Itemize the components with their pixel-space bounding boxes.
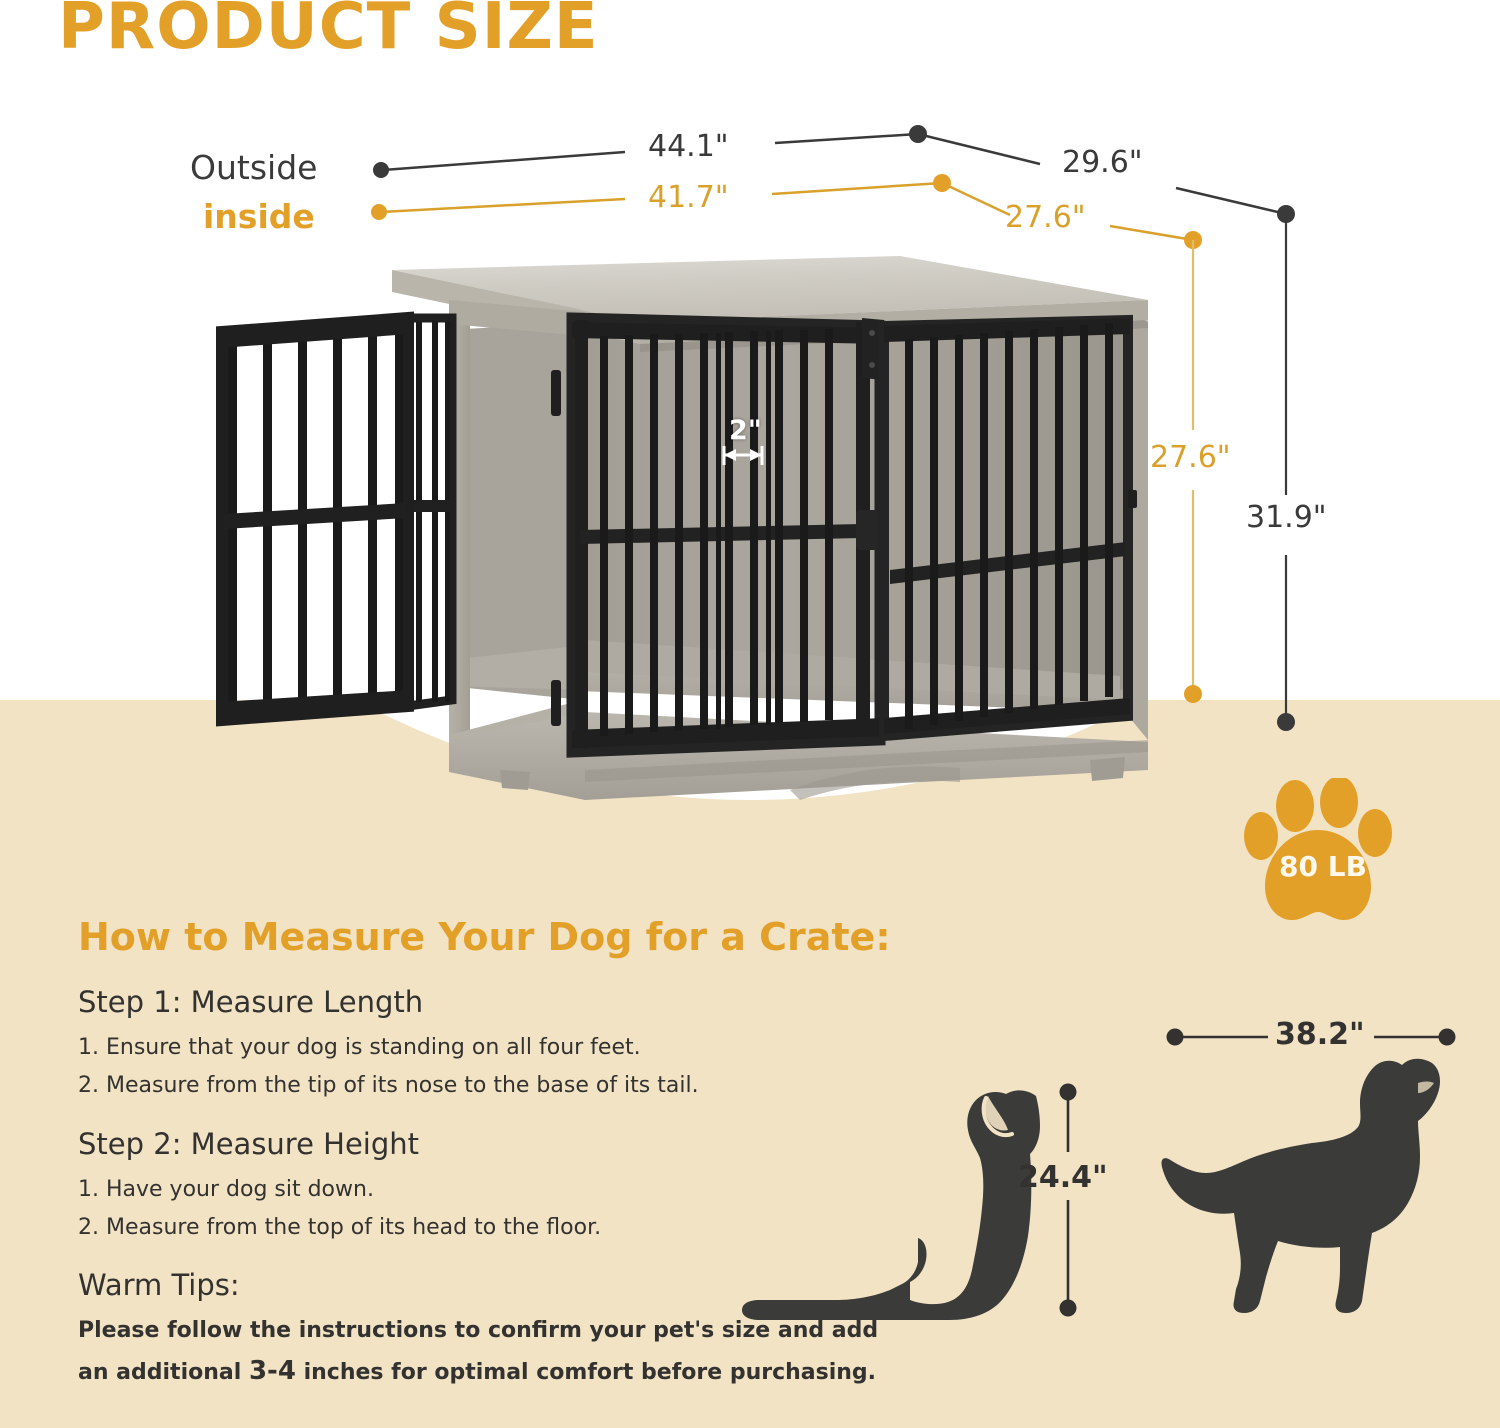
- warm-tips-heading: Warm Tips:: [78, 1268, 240, 1302]
- dimension-outside-depth: 29.6": [1062, 145, 1143, 180]
- dimension-inside-width: 41.7": [648, 180, 729, 215]
- step-1-line-1: 1. Ensure that your dog is standing on a…: [78, 1035, 641, 1060]
- dimension-outside-height: 31.9": [1246, 500, 1327, 535]
- warm-tips-line-2: an additional 3-4 inches for optimal com…: [78, 1356, 876, 1386]
- warm-tips-line-2-suffix: inches for optimal comfort before purcha…: [296, 1360, 876, 1385]
- infographic-canvas: PRODUCT SIZE: [0, 0, 1500, 1428]
- dimension-outside-width: 44.1": [648, 129, 729, 164]
- legend-outside-label: Outside: [190, 148, 317, 187]
- dimension-inside-height: 27.6": [1150, 440, 1231, 475]
- legend-inside-label: inside: [203, 197, 315, 236]
- step-2-line-2: 2. Measure from the top of its head to t…: [78, 1215, 601, 1240]
- dimension-inside-depth: 27.6": [1005, 200, 1086, 235]
- warm-tips-emphasis: 3-4: [249, 1356, 296, 1386]
- step-2-line-1: 1. Have your dog sit down.: [78, 1177, 374, 1202]
- dog-sitting-icon: [740, 1050, 1040, 1330]
- dog-standing-icon: [1160, 1055, 1460, 1320]
- warm-tips-line-2-prefix: an additional: [78, 1360, 249, 1385]
- step-1-line-2: 2. Measure from the tip of its nose to t…: [78, 1073, 699, 1098]
- step-2-heading: Step 2: Measure Height: [78, 1127, 419, 1161]
- step-1-heading: Step 1: Measure Length: [78, 985, 423, 1019]
- dog-length-dimension: 38.2": [1275, 1017, 1365, 1052]
- guide-title: How to Measure Your Dog for a Crate:: [78, 915, 891, 959]
- capacity-badge-value: 80 LB: [1263, 850, 1383, 883]
- bar-spacing-callout: 2": [729, 415, 762, 446]
- dog-height-dimension: 24.4": [1018, 1160, 1108, 1195]
